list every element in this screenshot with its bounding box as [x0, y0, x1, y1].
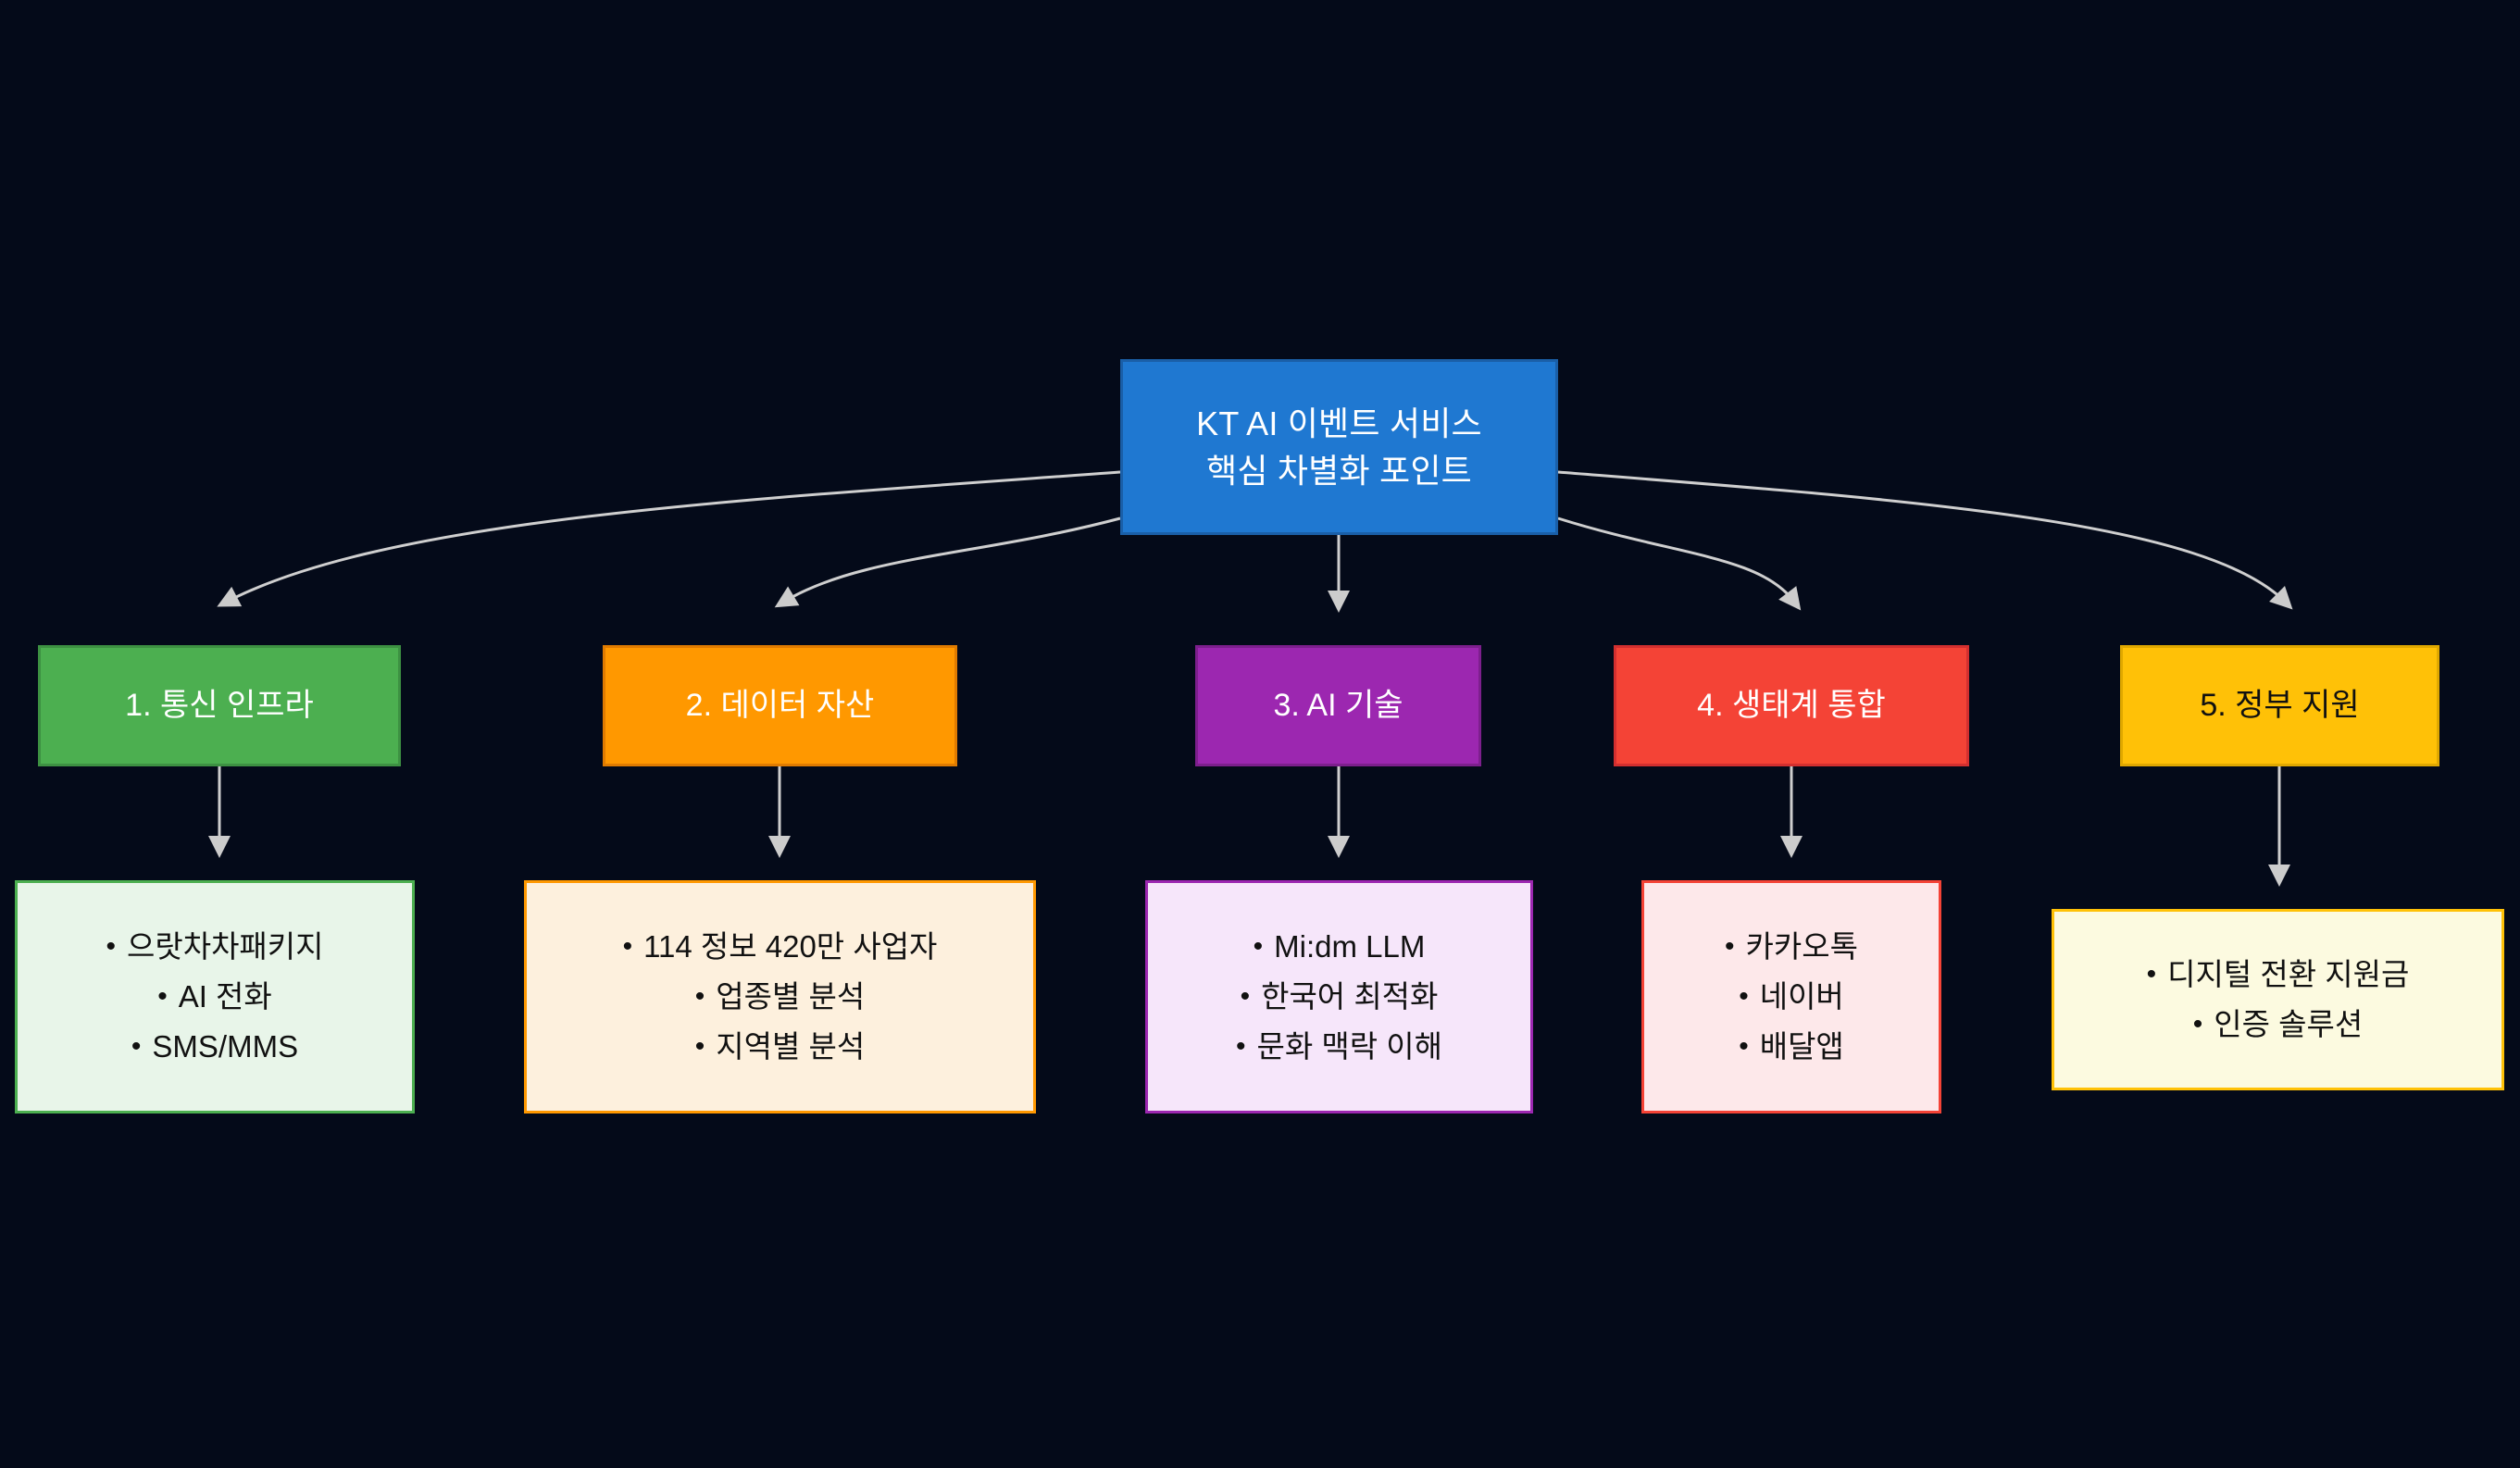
branch-node-3-label: 3. AI 기술 [1273, 685, 1403, 726]
detail-list-2: 114 정보 420만 사업자 업종별 분석 지역별 분석 [623, 922, 938, 1073]
detail-item: 배달앱 [1739, 1026, 1844, 1067]
detail-list-5: 디지털 전환 지원금 인증 솔루션 [2147, 950, 2410, 1050]
edge-root-to-branch-4 [1558, 518, 1794, 602]
detail-item: 지역별 분석 [695, 1026, 865, 1067]
detail-item: 한국어 최적화 [1241, 977, 1439, 1017]
detail-item: 디지털 전환 지원금 [2147, 954, 2410, 995]
detail-node-4[interactable]: 카카오톡 네이버 배달앱 [1641, 880, 1941, 1113]
branch-node-4-label: 4. 생태계 통합 [1697, 685, 1886, 726]
detail-item: 으랏차차패키지 [106, 927, 323, 967]
detail-item: SMS/MMS [131, 1026, 298, 1067]
branch-node-2-label: 2. 데이터 자산 [686, 685, 875, 726]
detail-list-1: 으랏차차패키지 AI 전화 SMS/MMS [106, 922, 323, 1073]
detail-node-3[interactable]: Mi:dm LLM 한국어 최적화 문화 맥락 이해 [1145, 880, 1533, 1113]
detail-item: 업종별 분석 [695, 977, 865, 1017]
detail-node-5[interactable]: 디지털 전환 지원금 인증 솔루션 [2052, 909, 2504, 1090]
edge-root-to-branch-1 [227, 472, 1120, 602]
detail-list-3: Mi:dm LLM 한국어 최적화 문화 맥락 이해 [1236, 922, 1442, 1073]
detail-node-1[interactable]: 으랏차차패키지 AI 전화 SMS/MMS [15, 880, 415, 1113]
detail-item: 카카오톡 [1725, 927, 1858, 967]
branch-node-1[interactable]: 1. 통신 인프라 [38, 645, 401, 766]
root-node-title-line2: 핵심 차별화 포인트 [1206, 447, 1472, 494]
detail-node-2[interactable]: 114 정보 420만 사업자 업종별 분석 지역별 분석 [524, 880, 1036, 1113]
root-node[interactable]: KT AI 이벤트 서비스 핵심 차별화 포인트 [1120, 359, 1558, 535]
branch-node-1-label: 1. 통신 인프라 [125, 685, 314, 726]
detail-item: 네이버 [1739, 977, 1844, 1017]
branch-node-4[interactable]: 4. 생태계 통합 [1614, 645, 1969, 766]
detail-item: 문화 맥락 이해 [1236, 1026, 1442, 1067]
root-node-title-line1: KT AI 이벤트 서비스 [1196, 400, 1482, 447]
detail-item: 인증 솔루션 [2193, 1004, 2363, 1045]
diagram-canvas: KT AI 이벤트 서비스 핵심 차별화 포인트 1. 통신 인프라 으랏차차패… [0, 0, 2520, 1468]
branch-node-5-label: 5. 정부 지원 [2200, 685, 2359, 726]
branch-node-3[interactable]: 3. AI 기술 [1195, 645, 1481, 766]
edge-root-to-branch-2 [784, 518, 1120, 602]
branch-node-5[interactable]: 5. 정부 지원 [2120, 645, 2439, 766]
detail-item: Mi:dm LLM [1254, 927, 1426, 967]
branch-node-2[interactable]: 2. 데이터 자산 [603, 645, 957, 766]
edge-root-to-branch-5 [1558, 472, 2285, 602]
detail-item: 114 정보 420만 사업자 [623, 927, 938, 967]
detail-item: AI 전화 [157, 977, 272, 1017]
detail-list-4: 카카오톡 네이버 배달앱 [1725, 922, 1858, 1073]
